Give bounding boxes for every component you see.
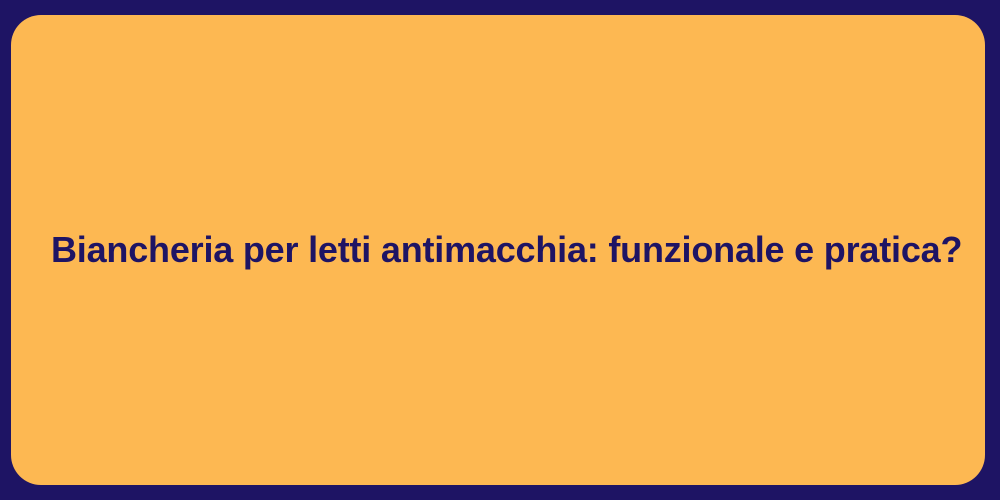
page-frame: Biancheria per letti antimacchia: funzio… xyxy=(0,0,1000,500)
article-card[interactable]: Biancheria per letti antimacchia: funzio… xyxy=(11,15,985,485)
card-body: Biancheria per letti antimacchia: funzio… xyxy=(11,226,985,275)
article-title: Biancheria per letti antimacchia: funzio… xyxy=(51,226,945,275)
